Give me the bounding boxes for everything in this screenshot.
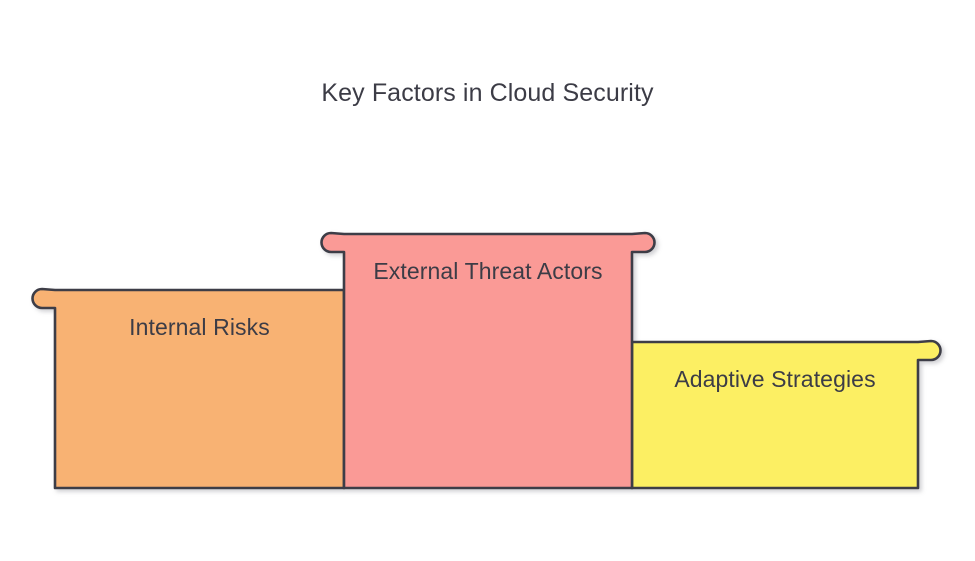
bar-label-internal-risks: Internal Risks bbox=[55, 310, 344, 345]
bar-label-adaptive-strategies: Adaptive Strategies bbox=[632, 362, 918, 397]
chart-canvas: Key Factors in Cloud Security Internal R… bbox=[0, 0, 975, 561]
bar-label-external-threat-actors: External Threat Actors bbox=[344, 254, 632, 289]
